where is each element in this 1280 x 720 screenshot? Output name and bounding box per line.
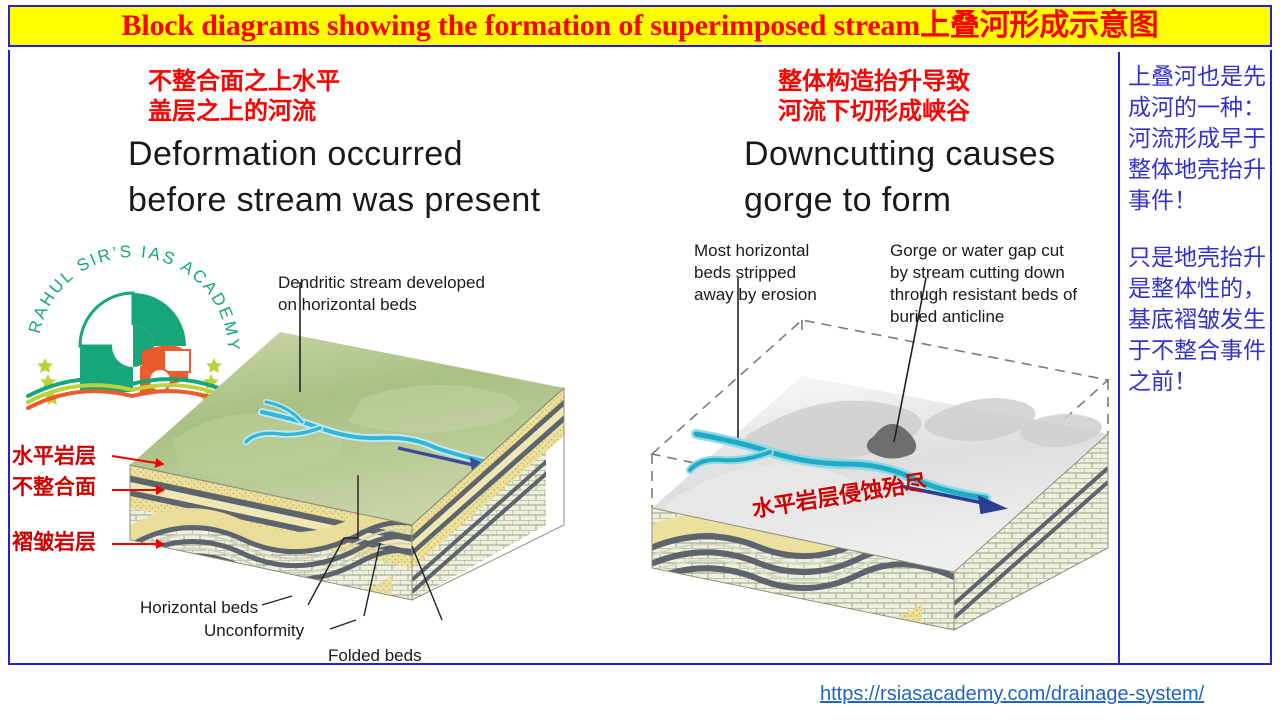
red-arrow-unconformity-surface	[112, 489, 164, 491]
caption-folded-beds: Folded beds	[328, 645, 422, 667]
caption-gorge-water-gap: Gorge or water gap cut by stream cutting…	[890, 240, 1077, 328]
slide-title-bar: Block diagrams showing the formation of …	[8, 5, 1272, 47]
source-url-link[interactable]: https://rsiasacademy.com/drainage-system…	[820, 683, 1204, 706]
right-note-block-2: 只是地壳抬升是整体性的，基底褶皱发生于不整合事件之前！	[1128, 243, 1266, 398]
left-block-diagram	[112, 300, 572, 620]
right-note-column: 上叠河也是先成河的一种：河流形成早于整体地壳抬升事件！ 只是地壳抬升是整体性的，…	[1128, 62, 1266, 424]
label-unconformity-surface: 不整合面	[12, 475, 96, 499]
caption-beds-stripped: Most horizontal beds stripped away by er…	[694, 240, 817, 306]
caption-unconformity: Unconformity	[204, 620, 304, 642]
caption-dendritic-stream: Dendritic stream developed on horizontal…	[278, 272, 485, 316]
slide-canvas: Block diagrams showing the formation of …	[0, 0, 1280, 720]
right-en-headline: Downcutting causes gorge to form	[744, 131, 1055, 223]
left-en-headline: Deformation occurred before stream was p…	[128, 131, 541, 223]
left-cn-headline: 不整合面之上水平 盖层之上的河流	[148, 66, 340, 126]
label-folded-strata: 褶皱岩层	[12, 530, 96, 554]
right-cn-headline: 整体构造抬升导致 河流下切形成峡谷	[778, 66, 970, 126]
red-arrow-folded-strata	[112, 543, 164, 545]
page-title: Block diagrams showing the formation of …	[122, 11, 1159, 41]
caption-horizontal-beds: Horizontal beds	[140, 597, 258, 619]
right-note-block-1: 上叠河也是先成河的一种：河流形成早于整体地壳抬升事件！	[1128, 62, 1266, 217]
label-horizontal-strata: 水平岩层	[12, 444, 96, 468]
